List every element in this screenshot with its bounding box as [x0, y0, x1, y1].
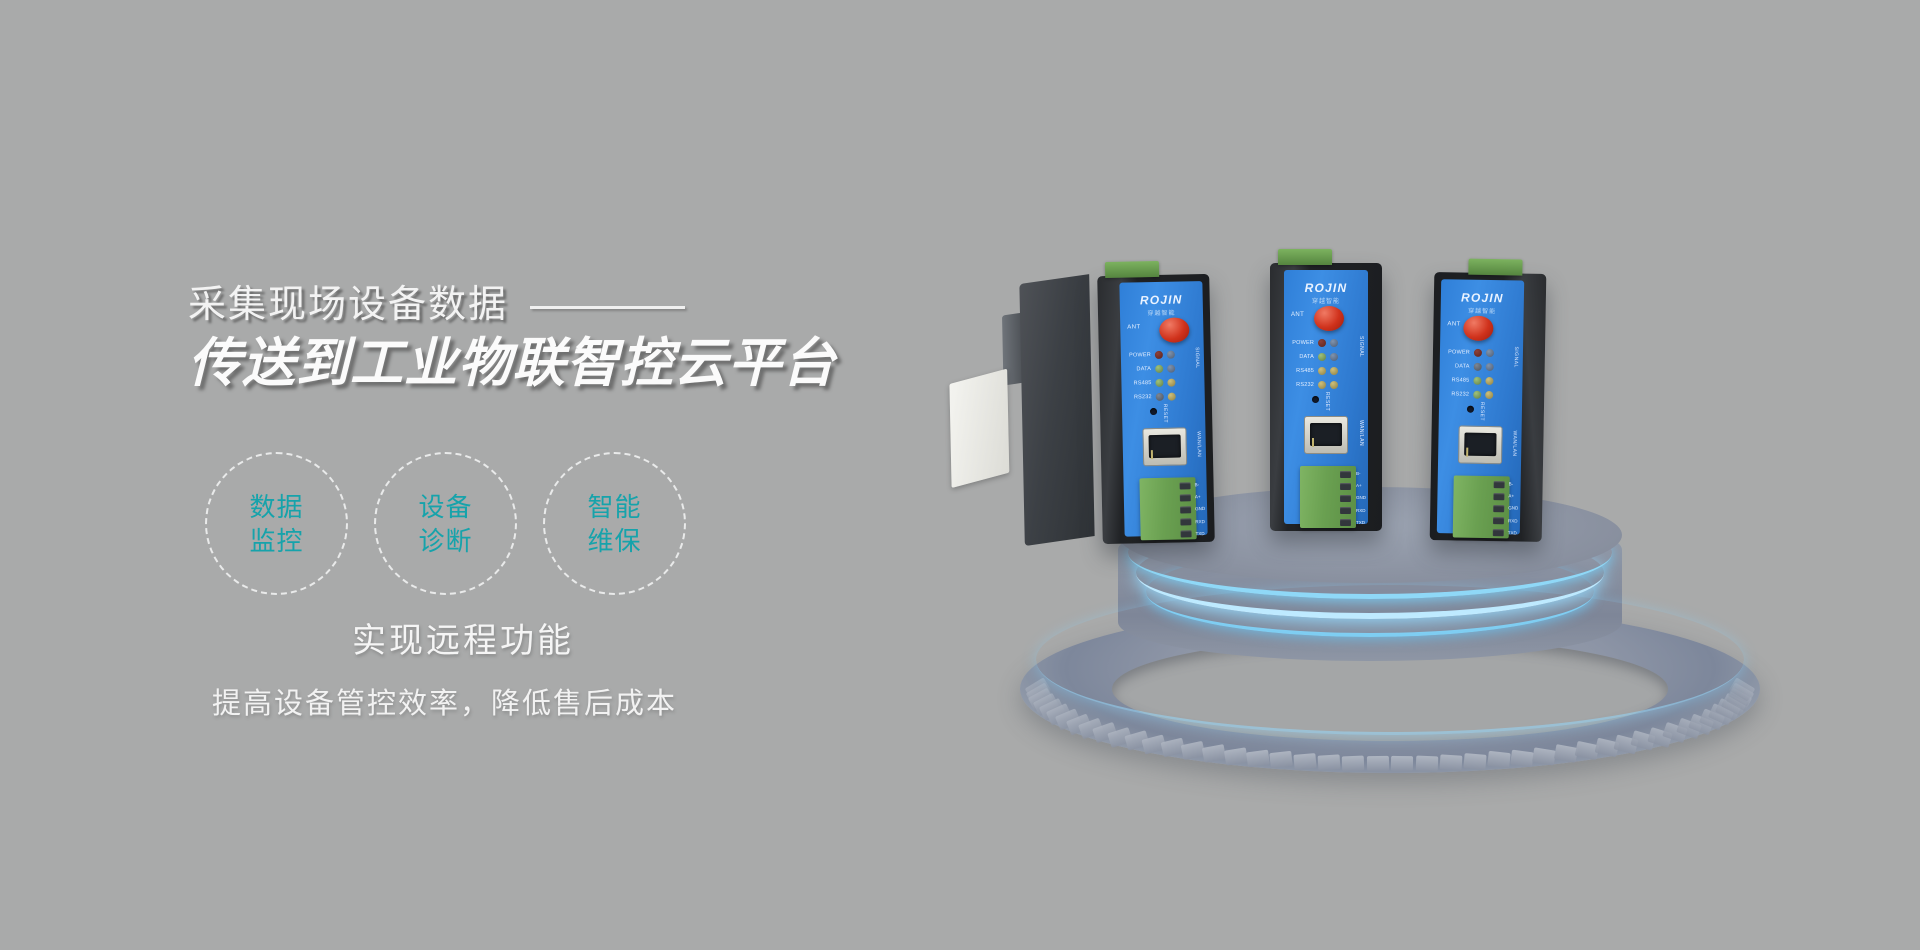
terminal-pin: RXD [1508, 515, 1518, 527]
feature-circle-data-monitor[interactable]: 数据 监控 [205, 452, 348, 595]
device-front-panel: ROJIN 穿越智能 ANT POWER DATA RS485 RS232 SI… [1437, 279, 1524, 534]
headline-row-1: 采集现场设备数据 [188, 282, 968, 328]
feature-circle-device-diagnosis[interactable]: 设备 诊断 [374, 452, 517, 595]
led-label: RS232 [1290, 382, 1314, 388]
led-row: RS232 [1128, 390, 1176, 405]
terminal-pin: RXD [1195, 516, 1205, 528]
gear-tooth [1293, 753, 1316, 770]
terminal-pin: GND [1356, 492, 1366, 504]
led-data-left [1318, 353, 1326, 361]
led-label: POWER [1446, 349, 1470, 355]
led-row: DATA [1127, 362, 1175, 377]
gear-tooth [1367, 756, 1389, 771]
led-power-left [1155, 351, 1163, 359]
terminal-pin-labels: B- A+ GND RXD TXD [1508, 478, 1519, 539]
led-indicator-block: POWER DATA RS485 RS232 [1127, 348, 1176, 405]
led-power-right [1330, 339, 1338, 347]
led-rs232-right [1330, 381, 1338, 389]
reset-label: RESET [1479, 402, 1485, 421]
led-row: RS232 [1445, 387, 1493, 402]
led-rs232-left [1318, 381, 1326, 389]
ethernet-port-icon [1142, 427, 1187, 466]
led-label: RS485 [1290, 368, 1314, 374]
ethernet-label: WAN/LAN [1195, 431, 1202, 457]
led-rs485-right [1485, 377, 1493, 385]
terminal-block [1139, 477, 1196, 540]
gear-tooth [1246, 749, 1270, 767]
copy-block: 采集现场设备数据 传送到工业物联智控云平台 [188, 282, 968, 396]
device-front-panel: ROJIN 穿越智能 ANT POWER DATA RS485 RS232 SI… [1119, 281, 1207, 537]
gear-tooth [1224, 747, 1248, 765]
gear-tooth [1202, 744, 1226, 763]
brand-subtitle: 穿越智能 [1147, 308, 1175, 318]
led-rs485-right [1330, 367, 1338, 375]
signal-strength-label: SIGNAL [1513, 346, 1519, 367]
ethernet-label: WAN/LAN [1511, 430, 1517, 456]
led-row: RS485 [1127, 376, 1175, 391]
power-connector [1468, 259, 1522, 276]
gear-tooth [1440, 754, 1463, 770]
reset-button[interactable] [1150, 408, 1157, 415]
feature-label-line1: 设备 [418, 490, 472, 524]
terminal-pin: B- [1509, 478, 1519, 490]
led-rs232-left [1473, 391, 1481, 399]
terminal-pin: A+ [1356, 480, 1366, 492]
led-row: RS485 [1290, 364, 1338, 378]
feature-label-line1: 数据 [249, 490, 303, 524]
led-rs232-right [1168, 393, 1176, 401]
terminal-pin: TXD [1196, 528, 1206, 540]
antenna-label: ANT [1127, 324, 1140, 330]
led-rs485-left [1473, 377, 1481, 385]
terminal-pin: B- [1356, 468, 1366, 480]
feature-label-line2: 监控 [249, 524, 303, 558]
ethernet-port-icon [1458, 425, 1503, 464]
gear-tooth [1510, 749, 1534, 767]
feature-circle-smart-maintenance[interactable]: 智能 维保 [543, 452, 686, 595]
led-rs485-left [1318, 367, 1326, 375]
terminal-pin-labels: B- A+ GND RXD TXD [1194, 479, 1205, 540]
brand-subtitle: 穿越智能 [1468, 306, 1496, 315]
led-power-left [1474, 349, 1482, 357]
led-label: POWER [1290, 340, 1314, 346]
led-rs232-left [1156, 393, 1164, 401]
led-row: POWER [1446, 345, 1494, 360]
product-scene: ROJIN 穿越智能 ANT POWER DATA RS485 RS232 SI… [1000, 255, 1790, 765]
reset-button[interactable] [1312, 396, 1319, 403]
antenna-connector-icon [1159, 317, 1190, 343]
gear-tooth [1317, 754, 1340, 770]
reset-button[interactable] [1467, 406, 1474, 413]
terminal-pin: B- [1194, 479, 1204, 491]
led-row: POWER [1290, 336, 1338, 350]
signal-strength-label: SIGNAL [1358, 336, 1364, 357]
ethernet-label: WAN/LAN [1358, 420, 1364, 446]
led-label: RS485 [1445, 377, 1469, 383]
headline-line-1: 采集现场设备数据 [188, 282, 508, 328]
led-rs232-right [1485, 391, 1493, 399]
led-row: DATA [1446, 359, 1494, 374]
gateway-device-1[interactable]: ROJIN 穿越智能 ANT POWER DATA RS485 RS232 SI… [1097, 274, 1215, 544]
led-rs485-left [1155, 379, 1163, 387]
led-label: RS232 [1445, 391, 1469, 397]
led-data-right [1330, 353, 1338, 361]
terminal-pin: GND [1195, 503, 1205, 515]
power-connector [1278, 249, 1332, 265]
gear-tooth [1416, 755, 1439, 771]
gateway-device-3[interactable]: ROJIN 穿越智能 ANT POWER DATA RS485 RS232 SI… [1430, 272, 1547, 542]
feature-circle-group: 数据 监控 设备 诊断 智能 维保 [205, 452, 686, 595]
brand-logo: ROJIN [1140, 292, 1183, 307]
terminal-block [1300, 466, 1356, 528]
led-row: RS485 [1445, 373, 1493, 388]
antenna-label: ANT [1291, 312, 1304, 318]
antenna-label: ANT [1447, 321, 1460, 327]
antenna-connector-icon [1463, 316, 1493, 342]
led-row: POWER [1127, 348, 1175, 363]
led-power-right [1486, 349, 1494, 357]
gateway-device-2[interactable]: ROJIN 穿越智能 ANT POWER DATA RS485 RS232 SI… [1270, 263, 1382, 531]
gear-tooth [1532, 747, 1556, 765]
headline-rule [530, 306, 685, 309]
reset-label: RESET [1324, 392, 1330, 411]
led-power-right [1167, 351, 1175, 359]
led-rs485-right [1167, 379, 1175, 387]
brand-logo: ROJIN [1461, 291, 1504, 306]
banner-root: 采集现场设备数据 传送到工业物联智控云平台 数据 监控 设备 诊断 智能 维保 … [0, 0, 1920, 950]
ethernet-port-icon [1304, 416, 1348, 454]
device-side-panel [1019, 274, 1094, 546]
device-spec-sticker [949, 369, 1009, 488]
led-data-left [1474, 363, 1482, 371]
terminal-block [1453, 475, 1510, 538]
led-data-right [1486, 363, 1494, 371]
terminal-pin-labels: B- A+ GND RXD TXD [1356, 468, 1366, 529]
gear-tooth [1464, 753, 1487, 770]
led-label: RS232 [1128, 394, 1152, 401]
terminal-pin: A+ [1508, 491, 1518, 503]
led-data-right [1167, 365, 1175, 373]
led-indicator-block: POWER DATA RS485 RS232 [1445, 345, 1494, 402]
led-label: RS485 [1127, 380, 1151, 387]
subcopy-detail: 提高设备管控效率，降低售后成本 [212, 680, 677, 722]
brand-logo: ROJIN [1305, 281, 1348, 295]
led-label: DATA [1127, 366, 1151, 373]
led-label: DATA [1290, 354, 1314, 360]
subcopy-main: 实现远程功能 [352, 613, 574, 662]
power-connector [1105, 261, 1159, 278]
terminal-pin: GND [1508, 503, 1518, 515]
led-power-left [1318, 339, 1326, 347]
led-label: DATA [1446, 363, 1470, 369]
terminal-pin: A+ [1195, 491, 1205, 503]
terminal-pin: RXD [1356, 505, 1366, 517]
led-row: RS232 [1290, 378, 1338, 392]
reset-label: RESET [1162, 404, 1168, 423]
led-row: DATA [1290, 350, 1338, 364]
headline-line-2: 传送到工业物联智控云平台 [188, 332, 968, 396]
feature-label-line1: 智能 [587, 490, 641, 524]
feature-label-line2: 维保 [587, 524, 641, 558]
led-data-left [1155, 365, 1163, 373]
antenna-connector-icon [1314, 306, 1344, 331]
gear-tooth [1391, 756, 1413, 771]
led-label: POWER [1127, 352, 1151, 359]
gear-tooth [1342, 755, 1365, 771]
device-front-panel: ROJIN 穿越智能 ANT POWER DATA RS485 RS232 SI… [1284, 270, 1368, 524]
terminal-pin: TXD [1508, 527, 1518, 539]
feature-label-line2: 诊断 [418, 524, 472, 558]
gear-tooth [1269, 751, 1293, 768]
gear-tooth [1487, 751, 1511, 768]
led-indicator-block: POWER DATA RS485 RS232 [1290, 336, 1338, 392]
terminal-pin: TXD [1356, 517, 1366, 529]
signal-strength-label: SIGNAL [1194, 347, 1200, 368]
brand-subtitle: 穿越智能 [1312, 296, 1340, 305]
